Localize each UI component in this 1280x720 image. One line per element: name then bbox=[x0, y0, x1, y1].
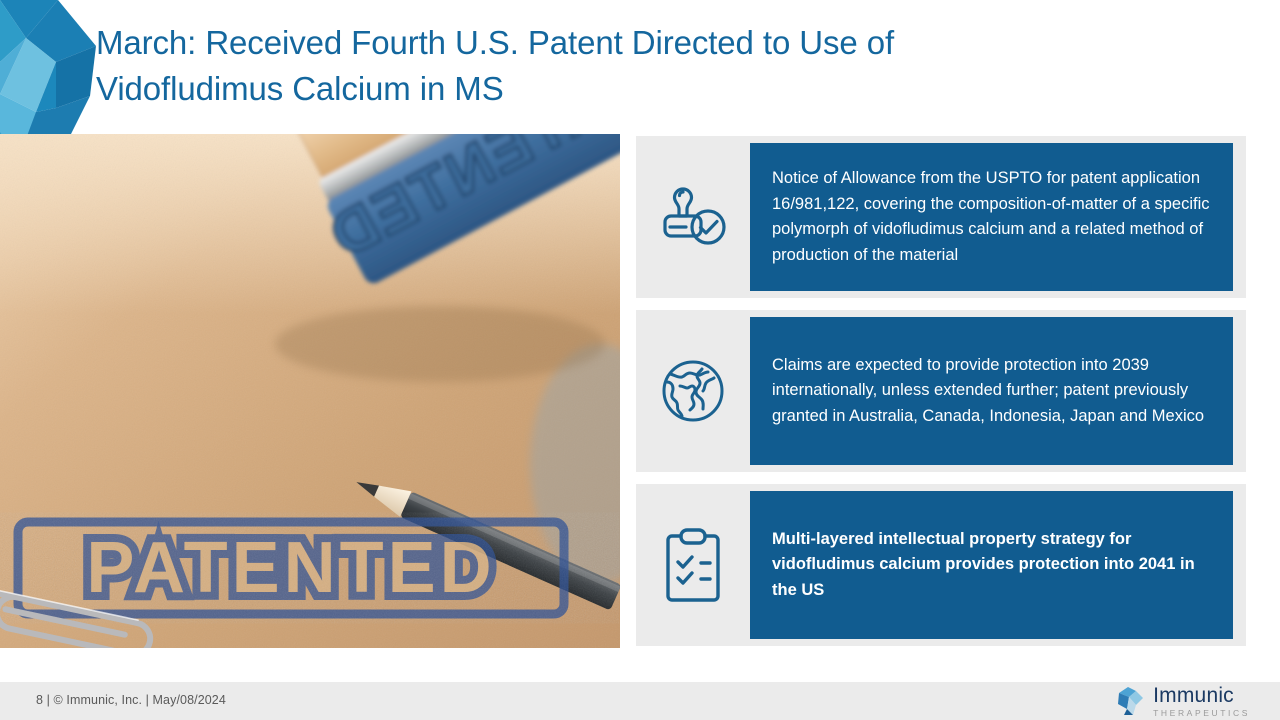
info-panel-text: Claims are expected to provide protectio… bbox=[772, 353, 1217, 430]
info-panel-body: Multi-layered intellectual property stra… bbox=[750, 491, 1233, 639]
logo-name: Immunic bbox=[1153, 685, 1250, 706]
info-panel: Claims are expected to provide protectio… bbox=[636, 310, 1246, 472]
patent-stamp-photo: PATENTED PATENTED PATENTED bbox=[0, 134, 620, 648]
clipboard-checklist-icon bbox=[636, 484, 750, 646]
title-block: March: Received Fourth U.S. Patent Direc… bbox=[96, 20, 1156, 112]
immunic-logo: Immunic THERAPEUTICS bbox=[1116, 685, 1250, 718]
immunic-logo-mark bbox=[1116, 685, 1146, 717]
stamp-check-icon bbox=[636, 136, 750, 298]
info-panel-body: Notice of Allowance from the USPTO for p… bbox=[750, 143, 1233, 291]
logo-tagline: THERAPEUTICS bbox=[1153, 709, 1250, 718]
page-title: March: Received Fourth U.S. Patent Direc… bbox=[96, 20, 1156, 112]
slide-root: March: Received Fourth U.S. Patent Direc… bbox=[0, 0, 1280, 720]
info-panel-text: Notice of Allowance from the USPTO for p… bbox=[772, 166, 1217, 268]
info-panel-list: Notice of Allowance from the USPTO for p… bbox=[636, 136, 1246, 646]
globe-icon bbox=[636, 310, 750, 472]
footer-bar: 8 | © Immunic, Inc. | May/08/2024 Immuni… bbox=[0, 682, 1280, 720]
info-panel: Notice of Allowance from the USPTO for p… bbox=[636, 136, 1246, 298]
footer-text: 8 | © Immunic, Inc. | May/08/2024 bbox=[36, 693, 226, 707]
info-panel: Multi-layered intellectual property stra… bbox=[636, 484, 1246, 646]
info-panel-body: Claims are expected to provide protectio… bbox=[750, 317, 1233, 465]
info-panel-text: Multi-layered intellectual property stra… bbox=[772, 527, 1217, 604]
